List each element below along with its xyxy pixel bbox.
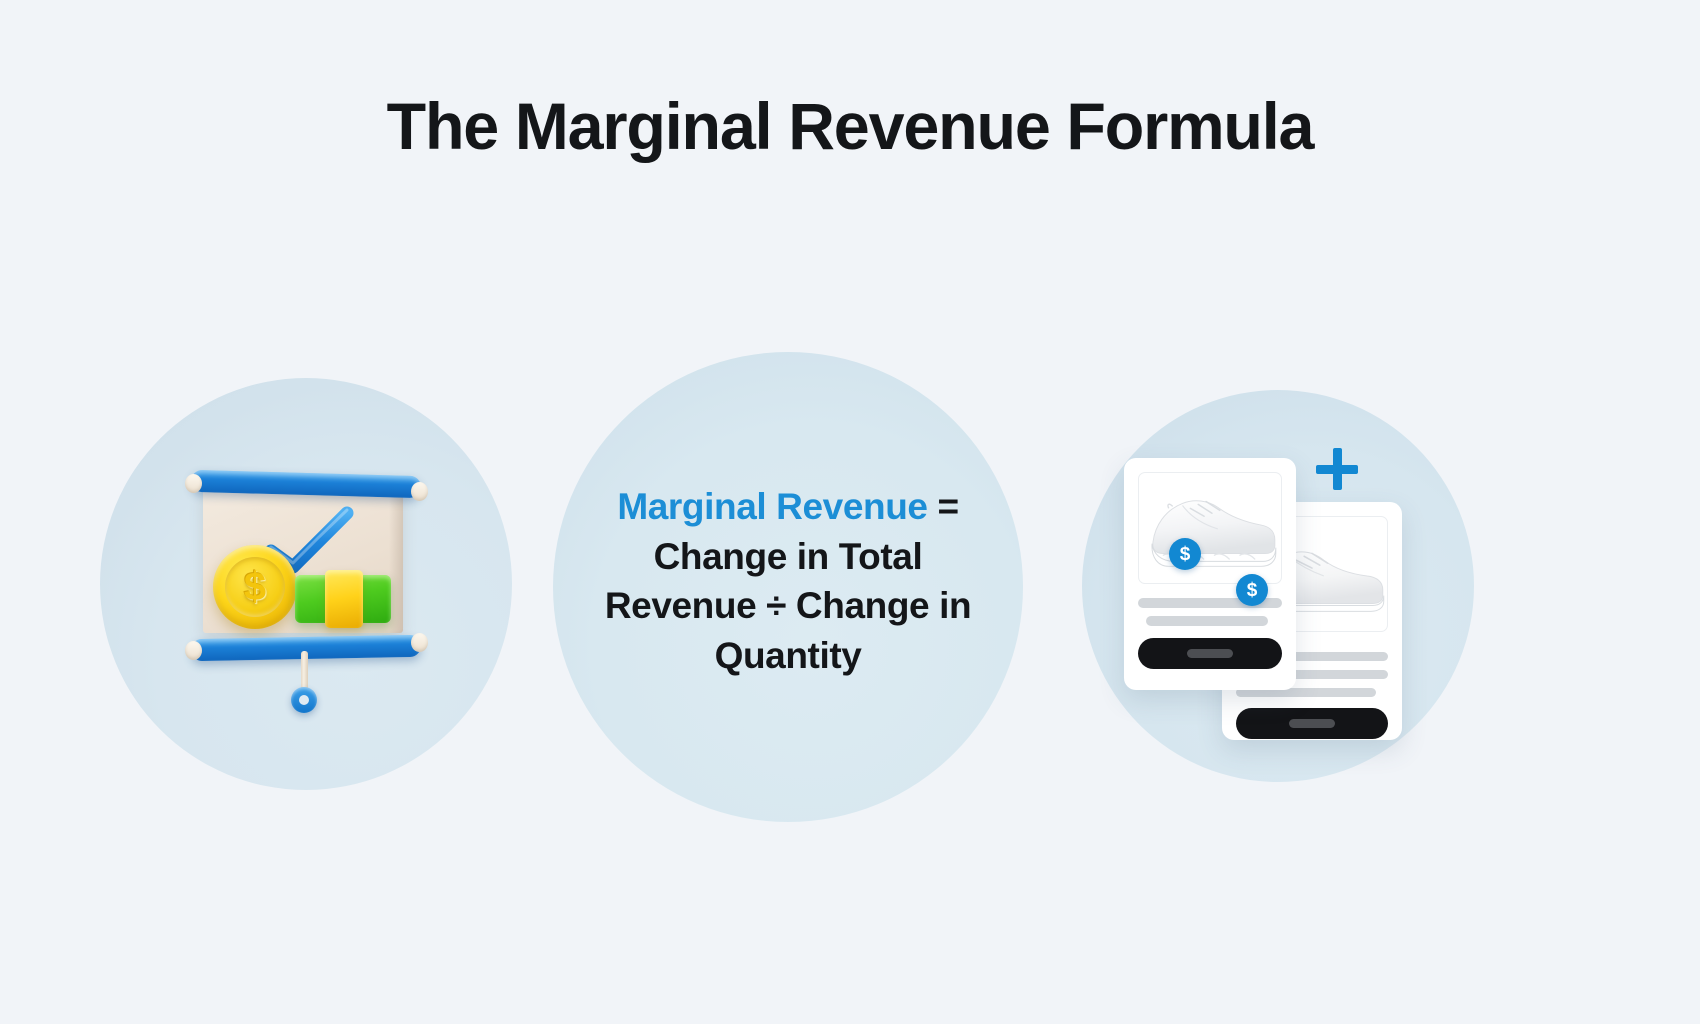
plus-horizontal-bar	[1316, 465, 1358, 474]
roller-cap-bottom-right	[411, 633, 428, 652]
button-label-bar	[1289, 719, 1335, 728]
infographic-canvas: The Marginal Revenue Formula $	[0, 0, 1700, 1024]
roller-cap-bottom-left	[185, 641, 202, 660]
page-title: The Marginal Revenue Formula	[17, 92, 1683, 161]
add-to-cart-button[interactable]	[1236, 708, 1388, 739]
price-badge-secondary: $	[1236, 574, 1268, 606]
formula-expression: Change in Total Revenue ÷ Change in Quan…	[605, 536, 971, 676]
formula-equals: =	[928, 486, 959, 527]
coin-dollar-symbol: $	[244, 567, 266, 607]
plus-icon	[1316, 448, 1358, 490]
cash-bundle-icon	[295, 573, 391, 625]
product-text-bar	[1146, 616, 1268, 626]
price-badge-primary: $	[1169, 538, 1201, 570]
board-stand-ring	[291, 687, 317, 713]
add-to-cart-button[interactable]	[1138, 638, 1282, 669]
formula-term: Marginal Revenue	[617, 486, 927, 527]
cash-band	[325, 570, 363, 628]
coin-face: $	[225, 557, 285, 617]
presentation-board-illustration: $	[155, 455, 455, 745]
product-card-primary[interactable]	[1124, 458, 1296, 690]
roller-cap-top-right	[411, 482, 428, 501]
sneaker-icon	[1139, 473, 1281, 583]
dollar-coin-icon: $	[213, 545, 297, 629]
dollar-symbol: $	[1247, 581, 1258, 600]
marginal-revenue-formula: Marginal Revenue = Change in Total Reven…	[553, 482, 1023, 680]
button-label-bar	[1187, 649, 1233, 658]
product-image-frame	[1138, 472, 1282, 584]
product-cards-illustration: $ $	[1100, 430, 1440, 760]
dollar-symbol: $	[1180, 545, 1191, 564]
